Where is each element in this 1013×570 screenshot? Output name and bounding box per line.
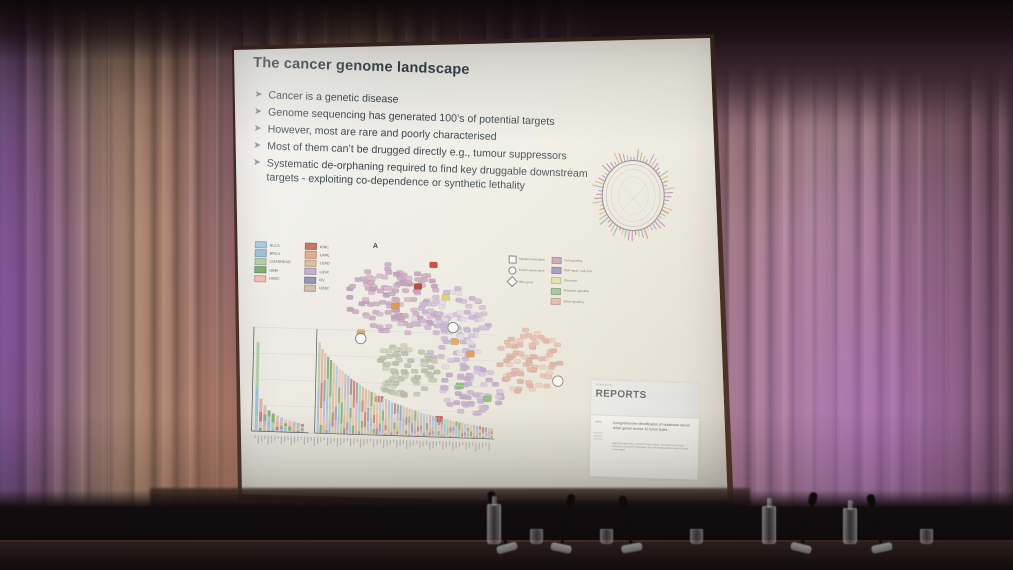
legend-label: LUAD [320,262,330,266]
network-legend-item: Mutated driver gene [509,255,545,264]
legend-item: LUSC [304,268,330,276]
bottle-neck [492,496,497,506]
network-legend-item: Chromatin [551,277,592,285]
water-bottle [762,506,776,544]
legend-column-left: BLCABRCACOADREADGBMHNSC [254,241,291,291]
drinking-glass [920,529,933,544]
legend-label: HNSC [269,277,280,281]
circle-icon [508,267,516,275]
legend-swatch [305,251,317,259]
stage-light-purple-left [0,0,130,570]
water-bottle [843,508,857,544]
legend-swatch [255,241,267,249]
journal-ghost-watermark: Scientific [646,390,695,404]
network-legend-label: Chromatin [564,279,577,283]
network-legend-label: Mutated driver gene [519,258,545,262]
diamond-icon [506,276,517,287]
cancer-type-legend: BLCABRCACOADREADGBMHNSC KIRCLAMLLUADLUSC… [254,241,331,293]
bullet-arrow-icon: ➤ [254,106,262,120]
legend-item: COADREAD [254,258,290,266]
article-title: Comprehensive identification of mutation… [613,421,691,433]
journal-kicker: SCIENTIFIC [596,383,612,387]
conference-photo: The cancer genome landscape ➤ Cancer is … [0,0,1013,570]
network-legend-label: Other signalling [563,300,583,304]
network-legend-label: Other gene [519,280,534,284]
open-access-badge: OPEN [595,420,602,423]
legend-label: BRCA [270,251,280,255]
legend-label: KIRC [320,245,329,249]
legend-swatch [254,258,266,266]
journal-wordmark: REPORTS [595,388,646,401]
legend-column-right: KIRCLAMLLUADLUSCOVUCEC [304,243,331,293]
article-dates: Received Accepted Published [593,432,609,441]
legend-swatch [305,259,317,267]
legend-item: BRCA [255,249,291,257]
bullet-arrow-icon: ➤ [254,89,262,103]
article-authors: Abel Gonzalez-Perez, Christian Perez-Lla… [612,443,692,455]
network-legend-shapes: Mutated driver geneKnown cancer geneOthe… [508,255,545,304]
bottle-neck [767,498,772,508]
legend-item: LUAD [305,259,331,267]
drinking-glass [600,529,613,544]
legend-label: GBM [269,268,278,272]
circos-genome-plot [589,148,677,243]
square-icon [509,255,517,263]
legend-item: KIRC [305,243,331,251]
bullet-arrow-icon: ➤ [252,157,261,184]
legend-swatch [255,249,267,257]
network-legend-item: Cell signalling [552,257,593,265]
legend-item: OV [304,276,330,284]
bullet-arrow-icon: ➤ [253,140,261,154]
legend-swatch [551,277,561,284]
projection-screen: The cancer genome landscape ➤ Cancer is … [228,30,740,520]
legend-swatch [551,287,561,294]
legend-swatch [304,285,316,293]
slide-title: The cancer genome landscape [253,55,470,78]
bottle-neck [848,500,853,510]
legend-swatch [552,267,562,274]
legend-label: COADREAD [270,260,291,265]
legend-item: UCEC [304,285,330,293]
slide-bullet-list: ➤ Cancer is a genetic disease ➤ Genome s… [252,89,622,200]
network-legend-label: Metabolic signalling [564,290,589,294]
legend-swatch [254,274,266,282]
legend-item: LAML [305,251,331,259]
network-legend: Mutated driver geneKnown cancer geneOthe… [508,255,593,306]
driver-gene-bar-chart [238,313,501,472]
network-legend-item: Known cancer gene [508,267,544,276]
legend-item: GBM [254,266,290,274]
legend-swatch [551,298,561,305]
network-legend-colors: Cell signallingDNA repair / cell cycleCh… [551,257,593,306]
network-legend-label: DNA repair / cell cycle [564,269,592,273]
legend-swatch [304,276,316,284]
network-legend-item: DNA repair / cell cycle [552,267,593,275]
screen-surface: The cancer genome landscape ➤ Cancer is … [228,30,728,500]
network-legend-label: Known cancer gene [519,269,545,273]
legend-label: BLCA [270,243,280,247]
legend-swatch [305,243,317,251]
legend-swatch [254,266,266,274]
legend-label: UCEC [319,287,330,291]
legend-label: LAML [320,253,330,257]
network-legend-item: Metabolic signalling [551,287,592,295]
bullet-arrow-icon: ➤ [253,123,261,137]
legend-label: LUSC [319,270,329,274]
network-legend-item: Other gene [508,278,544,287]
legend-swatch [304,268,316,276]
legend-label: OV [319,278,324,282]
water-bottle [487,504,501,544]
drinking-glass [690,529,703,544]
legend-swatch [552,257,562,264]
drinking-glass [530,529,543,544]
legend-item: HNSC [254,274,290,282]
network-legend-item: Other signalling [551,298,592,306]
journal-article-thumbnail: SCIENTIFIC REPORTS Scientific OPEN Compr… [590,380,700,480]
network-legend-label: Cell signalling [564,259,582,263]
legend-item: BLCA [255,241,291,249]
presentation-slide: The cancer genome landscape ➤ Cancer is … [228,30,728,500]
